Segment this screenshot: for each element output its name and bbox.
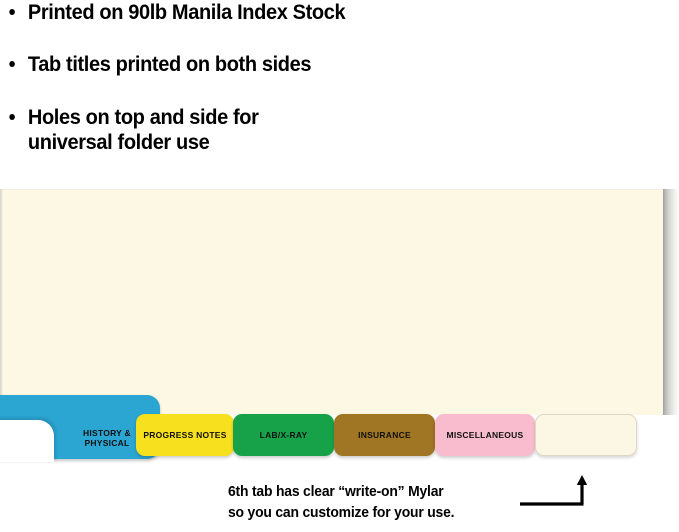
bullet-dot-icon — [9, 61, 15, 67]
caption-line-1: 6th tab has clear “write-on” Mylar — [228, 482, 516, 503]
folder-tab-notch — [0, 420, 54, 462]
pointer-arrow-icon — [516, 472, 596, 514]
folder-tab-insurance[interactable]: INSURANCE — [334, 414, 435, 456]
feature-bullet-item: Holes on top and side for universal fold… — [0, 105, 631, 155]
folder-left-edge — [0, 189, 3, 415]
folder-tab-label: LAB/X-RAY — [260, 430, 308, 440]
folder-tab-lab-xray[interactable]: LAB/X-RAY — [233, 414, 334, 456]
folder-tab-label: INSURANCE — [358, 430, 411, 440]
folder-tab-label: MISCELLANEOUS — [447, 430, 524, 440]
folder-tab-miscellaneous[interactable]: MISCELLANEOUS — [435, 414, 535, 456]
feature-text-line2: universal folder use — [28, 130, 632, 155]
feature-text: Holes on top and side for — [28, 105, 259, 129]
folder-right-edge-shadow — [663, 189, 679, 415]
feature-text: Printed on 90lb Manila Index Stock — [28, 0, 345, 24]
bullet-dot-icon — [9, 9, 15, 15]
folder-tab-label: PROGRESS NOTES — [143, 430, 226, 440]
caption-line-2: so you can customize for your use. — [228, 503, 516, 524]
folder-tab-label: HISTORY & PHYSICAL — [83, 428, 131, 448]
feature-bullet-list: Printed on 90lb Manila Index Stock Tab t… — [0, 0, 679, 100]
feature-text: Tab titles printed on both sides — [28, 52, 311, 76]
caption-text: 6th tab has clear “write-on” Mylar so yo… — [228, 482, 516, 524]
feature-bullet-item: Tab titles printed on both sides — [0, 52, 631, 77]
folder-tab-strip: HISTORY & PHYSICAL PROGRESS NOTES LAB/X-… — [0, 392, 679, 464]
folder-tab-blank-write-on[interactable] — [535, 414, 637, 456]
bullet-dot-icon — [9, 114, 15, 120]
folder-body — [0, 189, 663, 415]
folder-tab-progress-notes[interactable]: PROGRESS NOTES — [136, 414, 234, 456]
feature-bullet-item: Printed on 90lb Manila Index Stock — [0, 0, 631, 25]
